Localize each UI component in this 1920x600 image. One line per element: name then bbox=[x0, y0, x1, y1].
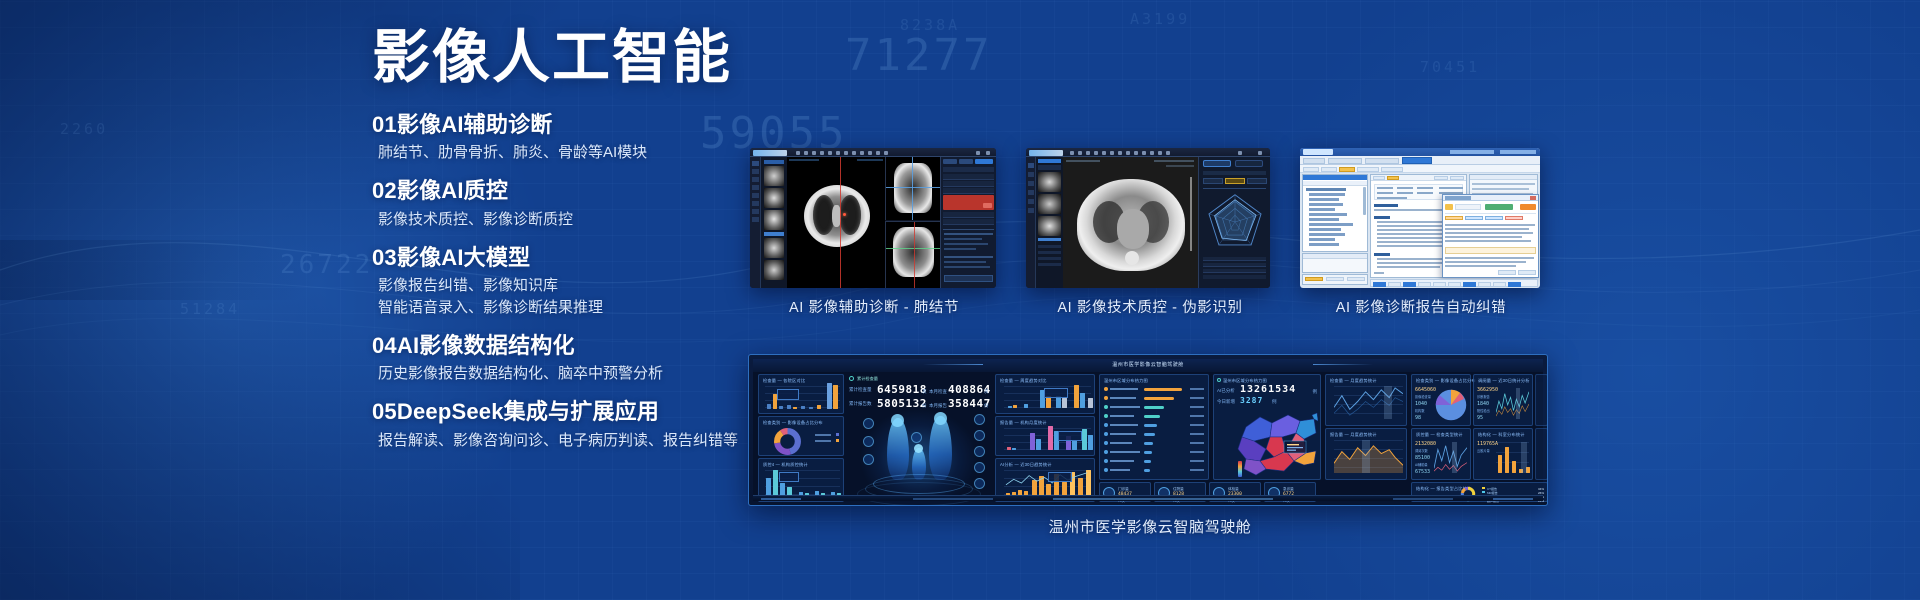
ct-nodule-thumbnail-strip[interactable] bbox=[761, 157, 787, 288]
area-chart-1 bbox=[1334, 440, 1403, 473]
tree-scrollbar[interactable] bbox=[1363, 187, 1366, 215]
status-badge-ok bbox=[1485, 204, 1513, 210]
side-stat-value-8: 85100 bbox=[1415, 455, 1430, 461]
dashboard-header: 温州市医学影像云智脑驾驶舱 bbox=[753, 359, 1543, 372]
background-digit-1: 71277 bbox=[845, 30, 992, 81]
fix-button[interactable] bbox=[1520, 204, 1536, 210]
list-item bbox=[1104, 422, 1204, 429]
report-tab-row[interactable] bbox=[1300, 156, 1540, 165]
page-title: 影像人工智能 bbox=[372, 28, 842, 89]
ct-artifact-thumbnail-strip[interactable] bbox=[1036, 157, 1063, 288]
panel-title: 报告量 — 月度趋势统计 bbox=[1330, 432, 1377, 438]
panel-title: 检查量 — 各院区对比 bbox=[763, 378, 805, 384]
ct-nodule-tool-rail[interactable] bbox=[750, 157, 761, 288]
side-stat-value-6: 95 bbox=[1477, 415, 1483, 421]
side-stat-value-7: 2132080 bbox=[1415, 441, 1436, 447]
side-stat-value-1: 6645060 bbox=[1415, 387, 1436, 393]
panel-title: 质控量 — 检查类型统计 bbox=[1416, 432, 1463, 438]
rank-badge-icon bbox=[1104, 441, 1108, 445]
qc-tab-1[interactable] bbox=[1203, 160, 1231, 167]
rank-badge-icon bbox=[1104, 432, 1108, 436]
line-chart-1 bbox=[1334, 386, 1403, 419]
close-icon[interactable] bbox=[1530, 196, 1536, 200]
panel-title: 调阅量 — 近30日统计分析 bbox=[1478, 378, 1530, 384]
metric-icon-3[interactable] bbox=[863, 454, 874, 465]
ct-artifact-window bbox=[1026, 148, 1270, 288]
side-stat-label-7: 调阅次数 bbox=[1415, 448, 1428, 453]
panel-tab-3-active[interactable] bbox=[975, 159, 993, 164]
bar-chart-2 bbox=[765, 470, 840, 496]
dashboard-panel-edge-2[interactable] bbox=[1535, 428, 1548, 480]
dashboard-panel-donut-1[interactable]: 检查类别 — 影像设备占比分布 bbox=[758, 416, 844, 456]
ct-artifact-main-view[interactable] bbox=[1063, 157, 1198, 288]
background-digit-4: A3199 bbox=[1130, 10, 1190, 28]
report-window-title bbox=[1450, 150, 1494, 154]
report-tree-footer[interactable] bbox=[1302, 253, 1368, 273]
app-logo-icon bbox=[1029, 150, 1063, 156]
list-item bbox=[1104, 413, 1204, 420]
side-stat-value-2: 1040 bbox=[1415, 401, 1427, 407]
overlay-cancel-button[interactable] bbox=[1498, 270, 1516, 275]
metric-icon-6[interactable] bbox=[974, 446, 985, 457]
pie-chart-1 bbox=[1435, 389, 1467, 421]
rank-badge-icon bbox=[1104, 423, 1108, 427]
dashboard-panel-edge-1[interactable] bbox=[1535, 374, 1548, 426]
feature-title-01: 01影像AI辅助诊断 bbox=[372, 111, 842, 140]
human-figure-adult-1 bbox=[887, 418, 909, 480]
dashboard-panel-line-3[interactable]: 质控量 — 检查类型统计 2132080 调阅次数 85100 AI辅助量 67… bbox=[1411, 428, 1471, 480]
stat-label-1: 累计检查量 bbox=[849, 387, 872, 393]
stat-unit-1: 次 bbox=[922, 389, 927, 395]
result-row[interactable] bbox=[943, 188, 994, 194]
today-counter-value: 3287 bbox=[1240, 396, 1263, 405]
background-digit-5: 70451 bbox=[1420, 58, 1480, 76]
result-row[interactable] bbox=[943, 219, 994, 225]
rank-badge-icon bbox=[1104, 450, 1108, 454]
metric-icon-4[interactable] bbox=[974, 414, 985, 425]
dashboard-panel-line-1[interactable]: 检查量 — 月度趋势统计 bbox=[1325, 374, 1407, 426]
hologram-ring-3 bbox=[857, 482, 981, 506]
dashboard-canvas: 温州市医学影像云智脑驾驶舱 检查量 — 各院区对比 bbox=[753, 359, 1543, 501]
stat-label-2: 本月检查 bbox=[929, 389, 947, 395]
panel-title: 结构化 — 科室分布统计 bbox=[1478, 432, 1525, 438]
ct-artifact-tool-rail[interactable] bbox=[1026, 157, 1036, 288]
nodule-marker bbox=[843, 213, 846, 216]
ct-nodule-window bbox=[750, 148, 996, 288]
panel-tab-2[interactable] bbox=[959, 159, 973, 164]
dashboard-panel-pie-1[interactable]: 检查类别 — 影像设备占比分布 6645060 影像检查量 1040 机构数 9… bbox=[1411, 374, 1471, 426]
report-tree-panel[interactable] bbox=[1302, 174, 1368, 252]
ct-nodule-results-panel[interactable] bbox=[940, 157, 996, 288]
panel-title: 检查量 — 月度趋势统计 bbox=[1330, 378, 1377, 384]
today-counter-unit: 例 bbox=[1272, 399, 1277, 405]
today-counter-label: 今日新增 bbox=[1217, 399, 1235, 405]
line-chart-3 bbox=[1434, 442, 1467, 473]
screenshot-caption-ct-artifact: AI 影像技术质控 - 伪影识别 bbox=[1006, 296, 1294, 317]
dashboard-header-title: 温州市医学影像云智脑驾驶舱 bbox=[1112, 361, 1184, 368]
report-window bbox=[1300, 148, 1540, 288]
panel-title: 检查量 — 周度趋势对比 bbox=[1000, 378, 1047, 384]
report-tab[interactable] bbox=[1365, 158, 1399, 164]
background-digit-0: 8238A bbox=[900, 16, 960, 34]
dashboard-panel-area-1[interactable]: 报告量 — 月度趋势统计 bbox=[1325, 428, 1407, 480]
donut-chart-1 bbox=[773, 427, 802, 456]
side-stat-label-2: 机构数 bbox=[1415, 408, 1425, 413]
panel-title: 报告量 — 机构月度统计 bbox=[1000, 420, 1047, 426]
dashboard-caption: 温州市医学影像云智脑驾驶舱 bbox=[1020, 516, 1280, 537]
dashboard-panel-bar-4[interactable]: 报告量 — 机构月度统计 bbox=[995, 416, 1095, 456]
qc-result-row[interactable] bbox=[1203, 269, 1266, 273]
qc-btn-1[interactable] bbox=[1203, 178, 1223, 184]
rank-badge-icon bbox=[1104, 459, 1108, 463]
screenshot-caption-report-correct: AI 影像诊断报告自动纠错 bbox=[1286, 296, 1556, 317]
side-stat-label-4: 诊断报告 bbox=[1477, 394, 1490, 399]
qc-result-row[interactable] bbox=[1203, 263, 1266, 267]
side-stat-label-5: 阳性检出 bbox=[1477, 408, 1490, 413]
ct-nodule-sagittal-view[interactable] bbox=[885, 221, 940, 288]
rank-badge-icon bbox=[1104, 387, 1108, 391]
dashboard-screenshot[interactable]: 温州市医学影像云智脑驾驶舱 检查量 — 各院区对比 bbox=[748, 354, 1548, 506]
background-digit-6: 51284 bbox=[180, 300, 240, 318]
dashboard-panel-bar-6[interactable]: 结构化 — 科室分布统计 119765A 云胶片量 bbox=[1473, 428, 1533, 480]
side-stat-value-9: 67533 bbox=[1415, 469, 1430, 475]
result-row[interactable] bbox=[943, 174, 994, 180]
bar-chart-6 bbox=[1496, 442, 1529, 473]
metric-icon-2[interactable] bbox=[863, 436, 874, 447]
ct-nodule-coronal-view[interactable] bbox=[885, 157, 940, 220]
qc-tab-2[interactable] bbox=[1235, 160, 1263, 167]
list-item bbox=[1104, 386, 1204, 393]
report-toolbar[interactable] bbox=[1300, 165, 1540, 173]
background-digit-3: 26722 bbox=[280, 250, 373, 280]
app-logo-icon bbox=[1303, 149, 1333, 155]
banner-root: 8238A 71277 59055 26722 A3199 70451 5128… bbox=[0, 0, 1920, 600]
line-chart-2 bbox=[1496, 388, 1529, 419]
result-row[interactable] bbox=[943, 181, 994, 187]
rank-badge-icon bbox=[1104, 468, 1108, 472]
report-correction-overlay[interactable] bbox=[1442, 194, 1539, 278]
hero-bullet-icon bbox=[849, 376, 854, 381]
report-tab-active[interactable] bbox=[1402, 157, 1432, 164]
report-tab[interactable] bbox=[1303, 158, 1325, 164]
report-tree-status bbox=[1302, 274, 1368, 285]
dashboard-ticker bbox=[753, 495, 1543, 501]
hero-section-label: 累计检查量 bbox=[857, 376, 878, 382]
ai-counter-label: AI已分析 bbox=[1217, 388, 1235, 394]
map-heat-legend bbox=[1238, 461, 1242, 477]
list-item bbox=[1104, 431, 1204, 438]
qc-result-row[interactable] bbox=[1203, 257, 1266, 261]
map-bullet-icon bbox=[1217, 378, 1221, 382]
list-item bbox=[1104, 440, 1204, 447]
stat-value-1: 6459818 bbox=[877, 383, 927, 396]
screenshot-caption-ct-nodule: AI 影像辅助诊断 - 肺结节 bbox=[730, 296, 1018, 317]
ct-nodule-axial-view[interactable] bbox=[787, 157, 885, 288]
panel-title: AI分析 — 近30日趋势统计 bbox=[1000, 462, 1052, 468]
human-figure-adult-2 bbox=[929, 416, 952, 480]
background-digit-7: 2260 bbox=[60, 120, 108, 138]
bar-chart-1 bbox=[765, 386, 840, 409]
report-tab[interactable] bbox=[1328, 158, 1362, 164]
radar-pentagon-chart bbox=[1204, 191, 1266, 253]
ranking-list[interactable] bbox=[1104, 386, 1204, 475]
rank-badge-icon bbox=[1104, 396, 1108, 400]
dashboard-panel-line-2[interactable]: 调阅量 — 近30日统计分析 3662950 诊断报告 1840 阳性检出 95 bbox=[1473, 374, 1533, 426]
screenshot-ct-artifact[interactable] bbox=[1026, 148, 1270, 288]
ct-artifact-qc-panel[interactable] bbox=[1198, 157, 1270, 288]
side-stat-value-3: 98 bbox=[1415, 415, 1421, 421]
rank-badge-icon bbox=[1104, 414, 1108, 418]
stat-unit-2: 次 bbox=[984, 389, 989, 395]
dashboard-panel-map[interactable]: 温州市区域分布热力图 AI已分析 13261534 例 今日新增 3287 例 bbox=[1213, 374, 1321, 480]
result-row-alert[interactable] bbox=[943, 195, 994, 210]
bar-chart-3 bbox=[1004, 386, 1091, 408]
stat-value-3: 5805132 bbox=[877, 397, 927, 410]
side-stat-label-10: 云胶片量 bbox=[1477, 448, 1490, 453]
dashboard-panel-ranking[interactable]: 温州市区域分布热力图 bbox=[1099, 374, 1209, 480]
warning-icon bbox=[1445, 204, 1453, 210]
side-stat-label-1: 影像检查量 bbox=[1415, 394, 1431, 399]
stat-label-4: 本月报告 bbox=[929, 403, 947, 409]
metric-icon-1[interactable] bbox=[863, 418, 874, 429]
app-logo-icon bbox=[753, 150, 787, 156]
panel-tab-1[interactable] bbox=[943, 159, 957, 164]
metric-icon-7[interactable] bbox=[974, 462, 985, 473]
metric-icon-8[interactable] bbox=[974, 478, 985, 489]
overlay-ok-button[interactable] bbox=[1518, 270, 1536, 275]
qc-btn-2-active[interactable] bbox=[1225, 178, 1245, 184]
list-item bbox=[1104, 404, 1204, 411]
panel-title: 检查类别 — 影像设备占比分布 bbox=[763, 420, 823, 426]
side-stat-value-10: 119765A bbox=[1477, 441, 1498, 447]
screenshot-ct-nodule[interactable] bbox=[750, 148, 996, 288]
report-action-bar[interactable] bbox=[1370, 279, 1538, 287]
stat-label-3: 累计报告数 bbox=[849, 401, 872, 407]
dashboard-hero-panel[interactable]: 累计检查量 累计检查量 6459818 次 本月检查 408864 次 累计报告… bbox=[847, 374, 991, 502]
panel-title: 检查类别 — 影像设备占比分布 bbox=[1416, 378, 1476, 384]
qc-result-row[interactable] bbox=[1203, 275, 1266, 279]
bar-line-chart-5 bbox=[1004, 470, 1091, 496]
metric-icon-5[interactable] bbox=[974, 430, 985, 441]
dashboard-panel-bar-1[interactable]: 检查量 — 各院区对比 bbox=[758, 374, 844, 414]
bar-chart-4 bbox=[1004, 428, 1091, 450]
list-item bbox=[1104, 395, 1204, 402]
side-stat-value-5: 1840 bbox=[1477, 401, 1489, 407]
stat-unit-3: 份 bbox=[922, 403, 927, 409]
ai-counter-value: 13261534 bbox=[1240, 384, 1296, 395]
panel-title: 质控4 — 机构质控统计 bbox=[763, 462, 808, 468]
result-row[interactable] bbox=[943, 212, 994, 218]
rank-badge-icon bbox=[1104, 405, 1108, 409]
metric-icon-center[interactable] bbox=[911, 432, 922, 443]
side-stat-value-4: 3662950 bbox=[1477, 387, 1498, 393]
ai-counter-unit: 例 bbox=[1313, 389, 1318, 395]
list-item bbox=[1104, 467, 1204, 474]
panel-title: 温州市区域分布热力图 bbox=[1104, 378, 1148, 384]
list-item bbox=[1104, 458, 1204, 465]
qc-btn-3[interactable] bbox=[1247, 178, 1267, 184]
side-stat-label-8: AI辅助量 bbox=[1415, 462, 1428, 467]
stat-unit-4: 份 bbox=[984, 403, 989, 409]
list-item bbox=[1104, 449, 1204, 456]
screenshot-report-correct[interactable] bbox=[1300, 148, 1540, 288]
dashboard-panel-bar-3[interactable]: 检查量 — 周度趋势对比 bbox=[995, 374, 1095, 414]
